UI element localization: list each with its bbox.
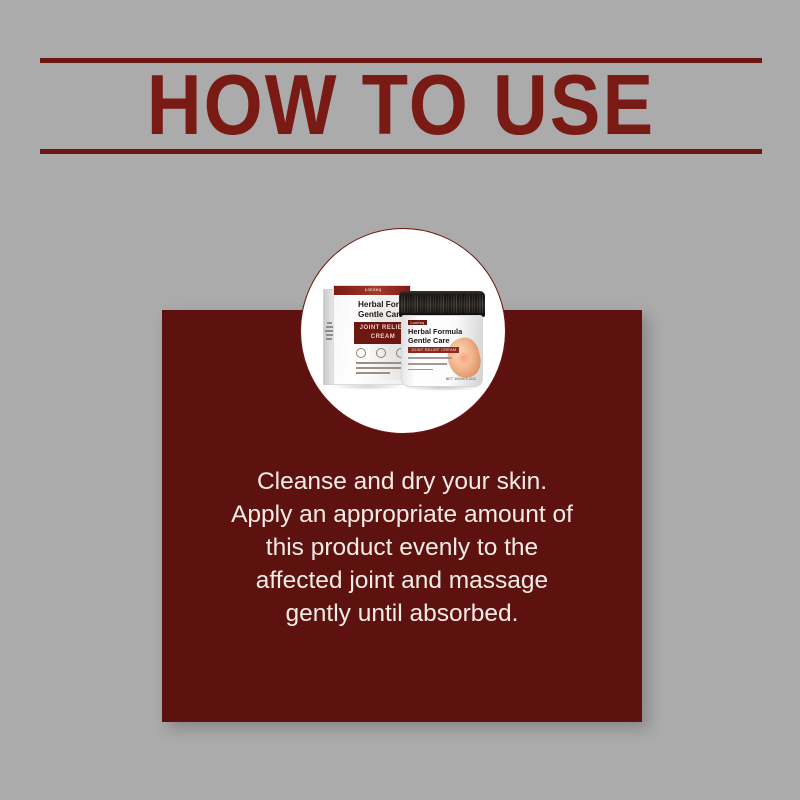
product-jar: Loniteq Herbal Formula Gentle Care JOINT… (399, 291, 485, 387)
instruction-line: affected joint and massage (162, 564, 642, 597)
product-photo: Loniteq Herbal Formula Gentle Care JOINT… (301, 229, 506, 434)
jar-tagline: JOINT RELIEF CREAM (408, 347, 459, 353)
product-carton: Loniteq Herbal Formula Gentle Care JOINT… (323, 285, 411, 385)
instruction-line: gently until absorbed. (162, 597, 642, 630)
instruction-line: this product evenly to the (162, 531, 642, 564)
herb-icon (356, 348, 366, 358)
jar-lid (399, 291, 485, 317)
jar-headline-line1: Herbal Formula (408, 327, 462, 336)
header-rule-bottom (40, 149, 762, 154)
jar-net-weight: NET 100ml/3.4OZ (446, 377, 476, 381)
jar-brand-label: Loniteq (408, 320, 427, 325)
product-medallion: Loniteq Herbal Formula Gentle Care JOINT… (300, 228, 506, 434)
instruction-line: Cleanse and dry your skin. (162, 465, 642, 498)
page-title: HOW TO USE (40, 58, 762, 154)
header-band: HOW TO USE (40, 58, 762, 154)
jar-body: Loniteq Herbal Formula Gentle Care JOINT… (401, 315, 483, 387)
clock-icon (376, 348, 386, 358)
instruction-text: Cleanse and dry your skin. Apply an appr… (162, 465, 642, 630)
jar-bullet-microtext (408, 357, 452, 374)
jar-headline-line2: Gentle Care (408, 336, 450, 345)
carton-headline-line2: Gentle Care (358, 310, 404, 319)
instruction-line: Apply an appropriate amount of (162, 498, 642, 531)
